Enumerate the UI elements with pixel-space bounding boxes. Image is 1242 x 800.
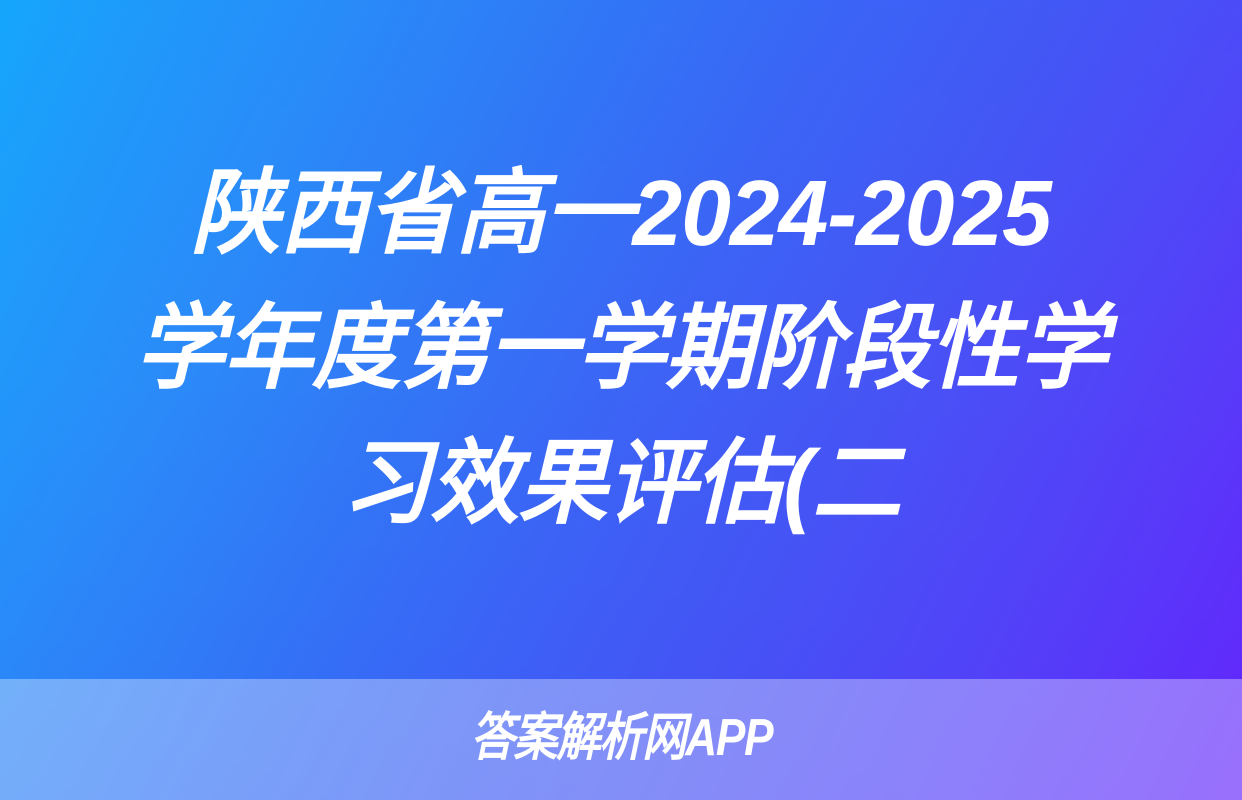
- exam-title-line-3: 习效果评估(二: [342, 416, 901, 551]
- title-card: 陕西省高一2024-2025 学年度第一学期阶段性学 习效果评估(二 答案解析网…: [0, 0, 1242, 800]
- watermark-label: 答案解析网APP: [470, 712, 772, 764]
- exam-title-line-1: 陕西省高一2024-2025: [191, 146, 1051, 281]
- watermark-band: 答案解析网APP: [0, 679, 1242, 800]
- exam-title-line-2: 学年度第一学期阶段性学: [135, 281, 1107, 416]
- exam-title-block: 陕西省高一2024-2025 学年度第一学期阶段性学 习效果评估(二: [0, 0, 1242, 679]
